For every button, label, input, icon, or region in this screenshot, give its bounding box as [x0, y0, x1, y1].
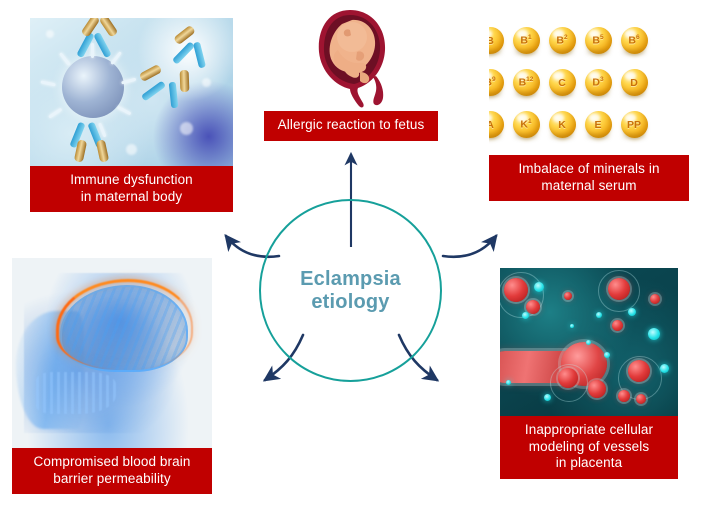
vitamin-label: B — [489, 35, 494, 47]
node-placenta: Inappropriate cellular modeling of vesse… — [500, 268, 678, 479]
minerals-caption-line1: Imbalace of minerals in — [493, 161, 685, 178]
vitamin-pill: B12 — [513, 69, 540, 96]
vitamin-label: B2 — [556, 34, 567, 47]
red-blood-cell — [504, 278, 528, 302]
vitamin-pill: K1 — [513, 111, 540, 138]
vitamin-pill: E — [585, 111, 612, 138]
placenta-caption-line3: in placenta — [504, 455, 674, 472]
red-blood-cell — [636, 394, 646, 404]
vitamin-pill: B9 — [489, 69, 504, 96]
placenta-caption-line2: modeling of vessels — [504, 439, 674, 456]
vitamin-pill: D — [621, 69, 648, 96]
center-label-line2: etiology — [259, 291, 442, 314]
fetus-caption: Allergic reaction to fetus — [264, 111, 438, 141]
red-blood-cell — [618, 390, 630, 402]
brain-image — [12, 258, 212, 448]
vitamin-pill: PP — [621, 111, 648, 138]
immune-image — [30, 18, 233, 166]
placenta-caption-line1: Inappropriate cellular — [504, 422, 674, 439]
node-fetus: Allergic reaction to fetus — [264, 6, 438, 141]
vitamin-label: A — [489, 119, 494, 131]
vitamin-pill: B2 — [549, 27, 576, 54]
vitamin-pill: C — [549, 69, 576, 96]
minerals-image: B B1 B2 B5 B6 B9 B12 C D3 D A K1 K E PP — [489, 18, 689, 155]
node-brain: Compromised blood brain barrier permeabi… — [12, 258, 212, 494]
red-blood-cell — [558, 368, 578, 388]
vitamin-label: D3 — [592, 76, 603, 89]
vitamin-label: B9 — [489, 76, 496, 89]
placenta-caption: Inappropriate cellular modeling of vesse… — [500, 416, 678, 479]
immune-caption-line1: Immune dysfunction — [34, 172, 229, 189]
vitamin-pill: B — [489, 27, 504, 54]
center-label: Eclampsia etiology — [259, 268, 442, 314]
vitamin-pill: K — [549, 111, 576, 138]
node-minerals: B B1 B2 B5 B6 B9 B12 C D3 D A K1 K E PP — [489, 18, 689, 201]
center-node: Eclampsia etiology — [259, 199, 442, 382]
center-label-line1: Eclampsia — [259, 268, 442, 291]
minerals-caption: Imbalace of minerals in maternal serum — [489, 155, 689, 201]
brain-caption-line1: Compromised blood brain — [16, 454, 208, 471]
vitamin-pill: D3 — [585, 69, 612, 96]
immune-caption-line2: in maternal body — [34, 189, 229, 206]
red-blood-cell — [526, 300, 540, 314]
placenta-image — [500, 268, 678, 416]
fetus-illustration-icon — [264, 6, 438, 111]
red-blood-cell — [650, 294, 660, 304]
arrow-to-minerals — [443, 236, 496, 257]
vitamin-grid: B B1 B2 B5 B6 B9 B12 C D3 D A K1 K E PP — [489, 24, 687, 146]
vitamin-label: E — [594, 119, 601, 131]
brain-caption-line2: barrier permeability — [16, 471, 208, 488]
vitamin-pill: B5 — [585, 27, 612, 54]
red-blood-cell — [628, 360, 650, 382]
brain-caption: Compromised blood brain barrier permeabi… — [12, 448, 212, 494]
vitamin-pill: B6 — [621, 27, 648, 54]
vitamin-pill: B1 — [513, 27, 540, 54]
vitamin-label: K — [558, 119, 566, 131]
red-blood-cell — [608, 278, 630, 300]
red-blood-cell — [564, 292, 572, 300]
fetus-image — [264, 6, 438, 111]
vitamin-pill: A — [489, 111, 504, 138]
vitamin-label: D — [630, 77, 638, 89]
vitamin-label: B5 — [592, 34, 603, 47]
vitamin-label: C — [558, 77, 566, 89]
immune-caption: Immune dysfunction in maternal body — [30, 166, 233, 212]
vitamin-label: B6 — [628, 34, 639, 47]
minerals-caption-line2: maternal serum — [493, 178, 685, 195]
vitamin-label: B1 — [520, 34, 531, 47]
red-blood-cell — [612, 320, 623, 331]
node-immune: Immune dysfunction in maternal body — [30, 18, 233, 212]
vitamin-label: B12 — [519, 76, 534, 89]
virus-particle-icon — [62, 56, 124, 118]
fetus-caption-line1: Allergic reaction to fetus — [268, 117, 434, 134]
diagram-canvas: Eclampsia etiology — [0, 0, 701, 510]
vitamin-label: K1 — [520, 118, 531, 131]
vitamin-label: PP — [627, 119, 641, 131]
red-blood-cell — [588, 380, 606, 398]
